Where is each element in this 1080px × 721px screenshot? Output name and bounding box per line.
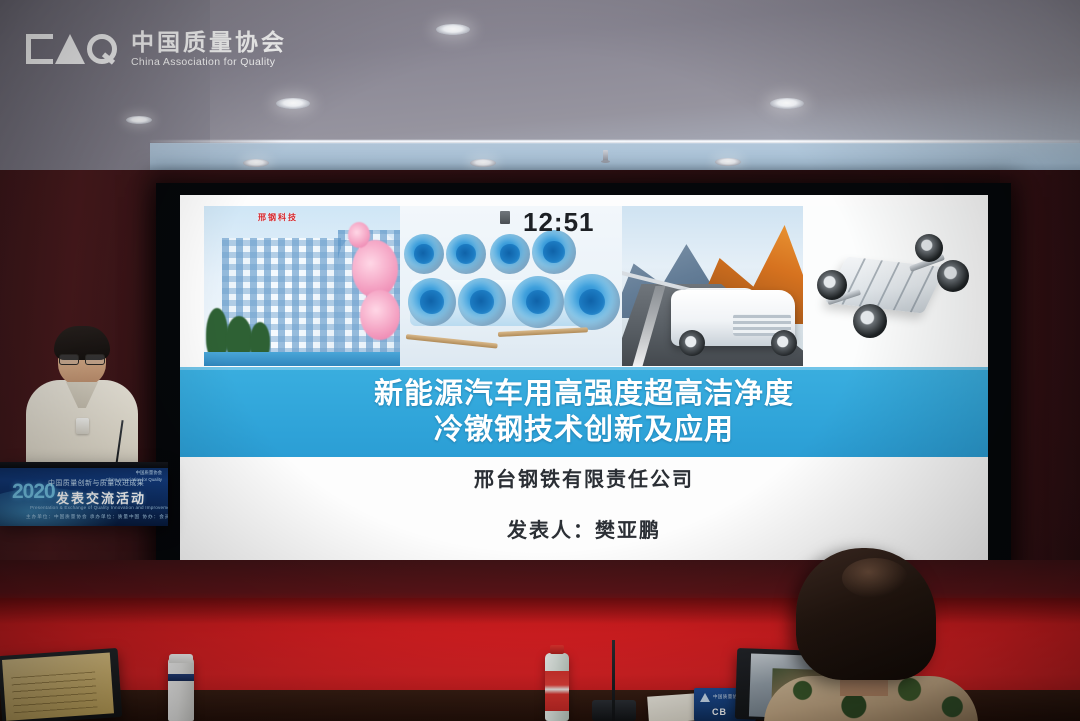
caq-name-chinese: 中国质量协会 — [131, 30, 287, 54]
clock-widget-icon — [500, 211, 510, 224]
steel-coil — [446, 234, 486, 274]
suv-wheel — [771, 330, 797, 356]
thermos-blue-band — [168, 674, 194, 681]
slide-subtitle-block: 邢台钢铁有限责任公司 发表人：樊亚鹏 — [180, 463, 988, 543]
cherry-blossom — [348, 222, 370, 248]
ceiling-downlight — [770, 98, 804, 109]
steel-coil — [490, 234, 530, 274]
podium-title-english: Presentation & Exchange of Quality Innov… — [30, 505, 168, 510]
podium-organizers: 主办单位：中国质量协会 承办单位：质量中国 协办：会员部 — [26, 514, 168, 520]
podium-note-cn: 中国质量协会 — [106, 470, 162, 477]
hair-highlight — [842, 558, 908, 598]
steel-coil — [564, 274, 620, 330]
ceiling-downlight — [243, 159, 269, 167]
podium-banner: 2020 中国质量创新与质量改进成果 发表交流活动 Presentation &… — [0, 462, 168, 526]
ceiling-downlight — [436, 24, 470, 35]
slide-organization: 邢台钢铁有限责任公司 — [180, 463, 988, 492]
desk-microphone-stem — [612, 640, 615, 721]
thermos-bottle — [168, 658, 194, 721]
steel-coil — [458, 278, 506, 326]
steel-coil — [408, 278, 456, 326]
led-screen-frame: 邢钢科技 — [156, 183, 1011, 572]
glasses-lens — [59, 354, 79, 365]
podium-right-logo-note: 中国质量协会 China Association for Quality — [106, 470, 162, 483]
clock-time: 12:51 — [523, 207, 595, 238]
chassis-wheel — [915, 234, 943, 262]
podium-desktop — [0, 462, 168, 468]
audience-hair — [796, 548, 936, 680]
presentation-slide: 邢钢科技 — [180, 195, 988, 560]
thermos-cap — [169, 654, 193, 663]
slide-presenter: 发表人：樊亚鹏 — [180, 514, 988, 543]
suv-wheel — [679, 330, 705, 356]
cherry-blossom — [352, 240, 398, 298]
caq-wordmark: 中国质量协会 China Association for Quality — [131, 30, 287, 68]
podium-note-en: China Association for Quality — [106, 477, 162, 484]
chassis-wheel — [853, 304, 887, 338]
conference-room-photo: 邢钢科技 — [0, 0, 1080, 721]
slide-title-band: 新能源汽车用高强度超高洁净度 冷镦钢技术创新及应用 — [180, 367, 988, 457]
building-foreground-fence — [204, 352, 400, 366]
presenter-badge — [76, 418, 89, 434]
placard-bottom-text: CB — [712, 707, 727, 717]
ceiling-downlight — [276, 98, 310, 109]
glasses-lens — [85, 354, 105, 365]
building-rooftop-sign: 邢钢科技 — [258, 212, 298, 223]
chassis-wheel — [937, 260, 969, 292]
suv-road-photo — [622, 206, 803, 366]
band-highlight — [180, 367, 988, 370]
laptop-left — [0, 648, 122, 721]
laptop-left-document-text — [11, 672, 97, 714]
audience-person-foreground — [778, 548, 1008, 721]
laptop-left-screen — [2, 652, 114, 720]
bottle-label — [545, 671, 569, 711]
presenter-glasses — [59, 354, 105, 363]
cherry-blossom — [360, 290, 400, 340]
steel-coil — [404, 234, 444, 274]
slide-title-line-1: 新能源汽车用高强度超高洁净度 — [374, 376, 794, 412]
ceiling-downlight — [715, 158, 741, 166]
logo-letter-c-icon — [26, 34, 53, 64]
caq-watermark-logo: 中国质量协会 China Association for Quality — [26, 30, 287, 68]
steel-coil — [512, 276, 564, 328]
caq-logomark-icon — [26, 34, 117, 64]
water-bottle — [545, 653, 569, 721]
logo-letter-q-icon — [87, 34, 117, 64]
chassis-wheel — [817, 270, 847, 300]
slide-title-line-2: 冷镦钢技术创新及应用 — [434, 412, 734, 448]
ceiling-downlight — [126, 116, 152, 124]
caq-name-english: China Association for Quality — [131, 57, 287, 68]
logo-letter-a-icon — [55, 34, 85, 64]
bottle-cap — [550, 645, 564, 654]
sprinkler-head — [603, 150, 608, 162]
ceiling-downlight — [470, 159, 496, 167]
ceiling-light-strip — [150, 140, 1080, 143]
ev-chassis-photo — [803, 206, 969, 366]
ceiling — [0, 0, 1080, 176]
office-building-photo: 邢钢科技 — [204, 206, 400, 366]
placard-logo-icon — [700, 693, 710, 702]
